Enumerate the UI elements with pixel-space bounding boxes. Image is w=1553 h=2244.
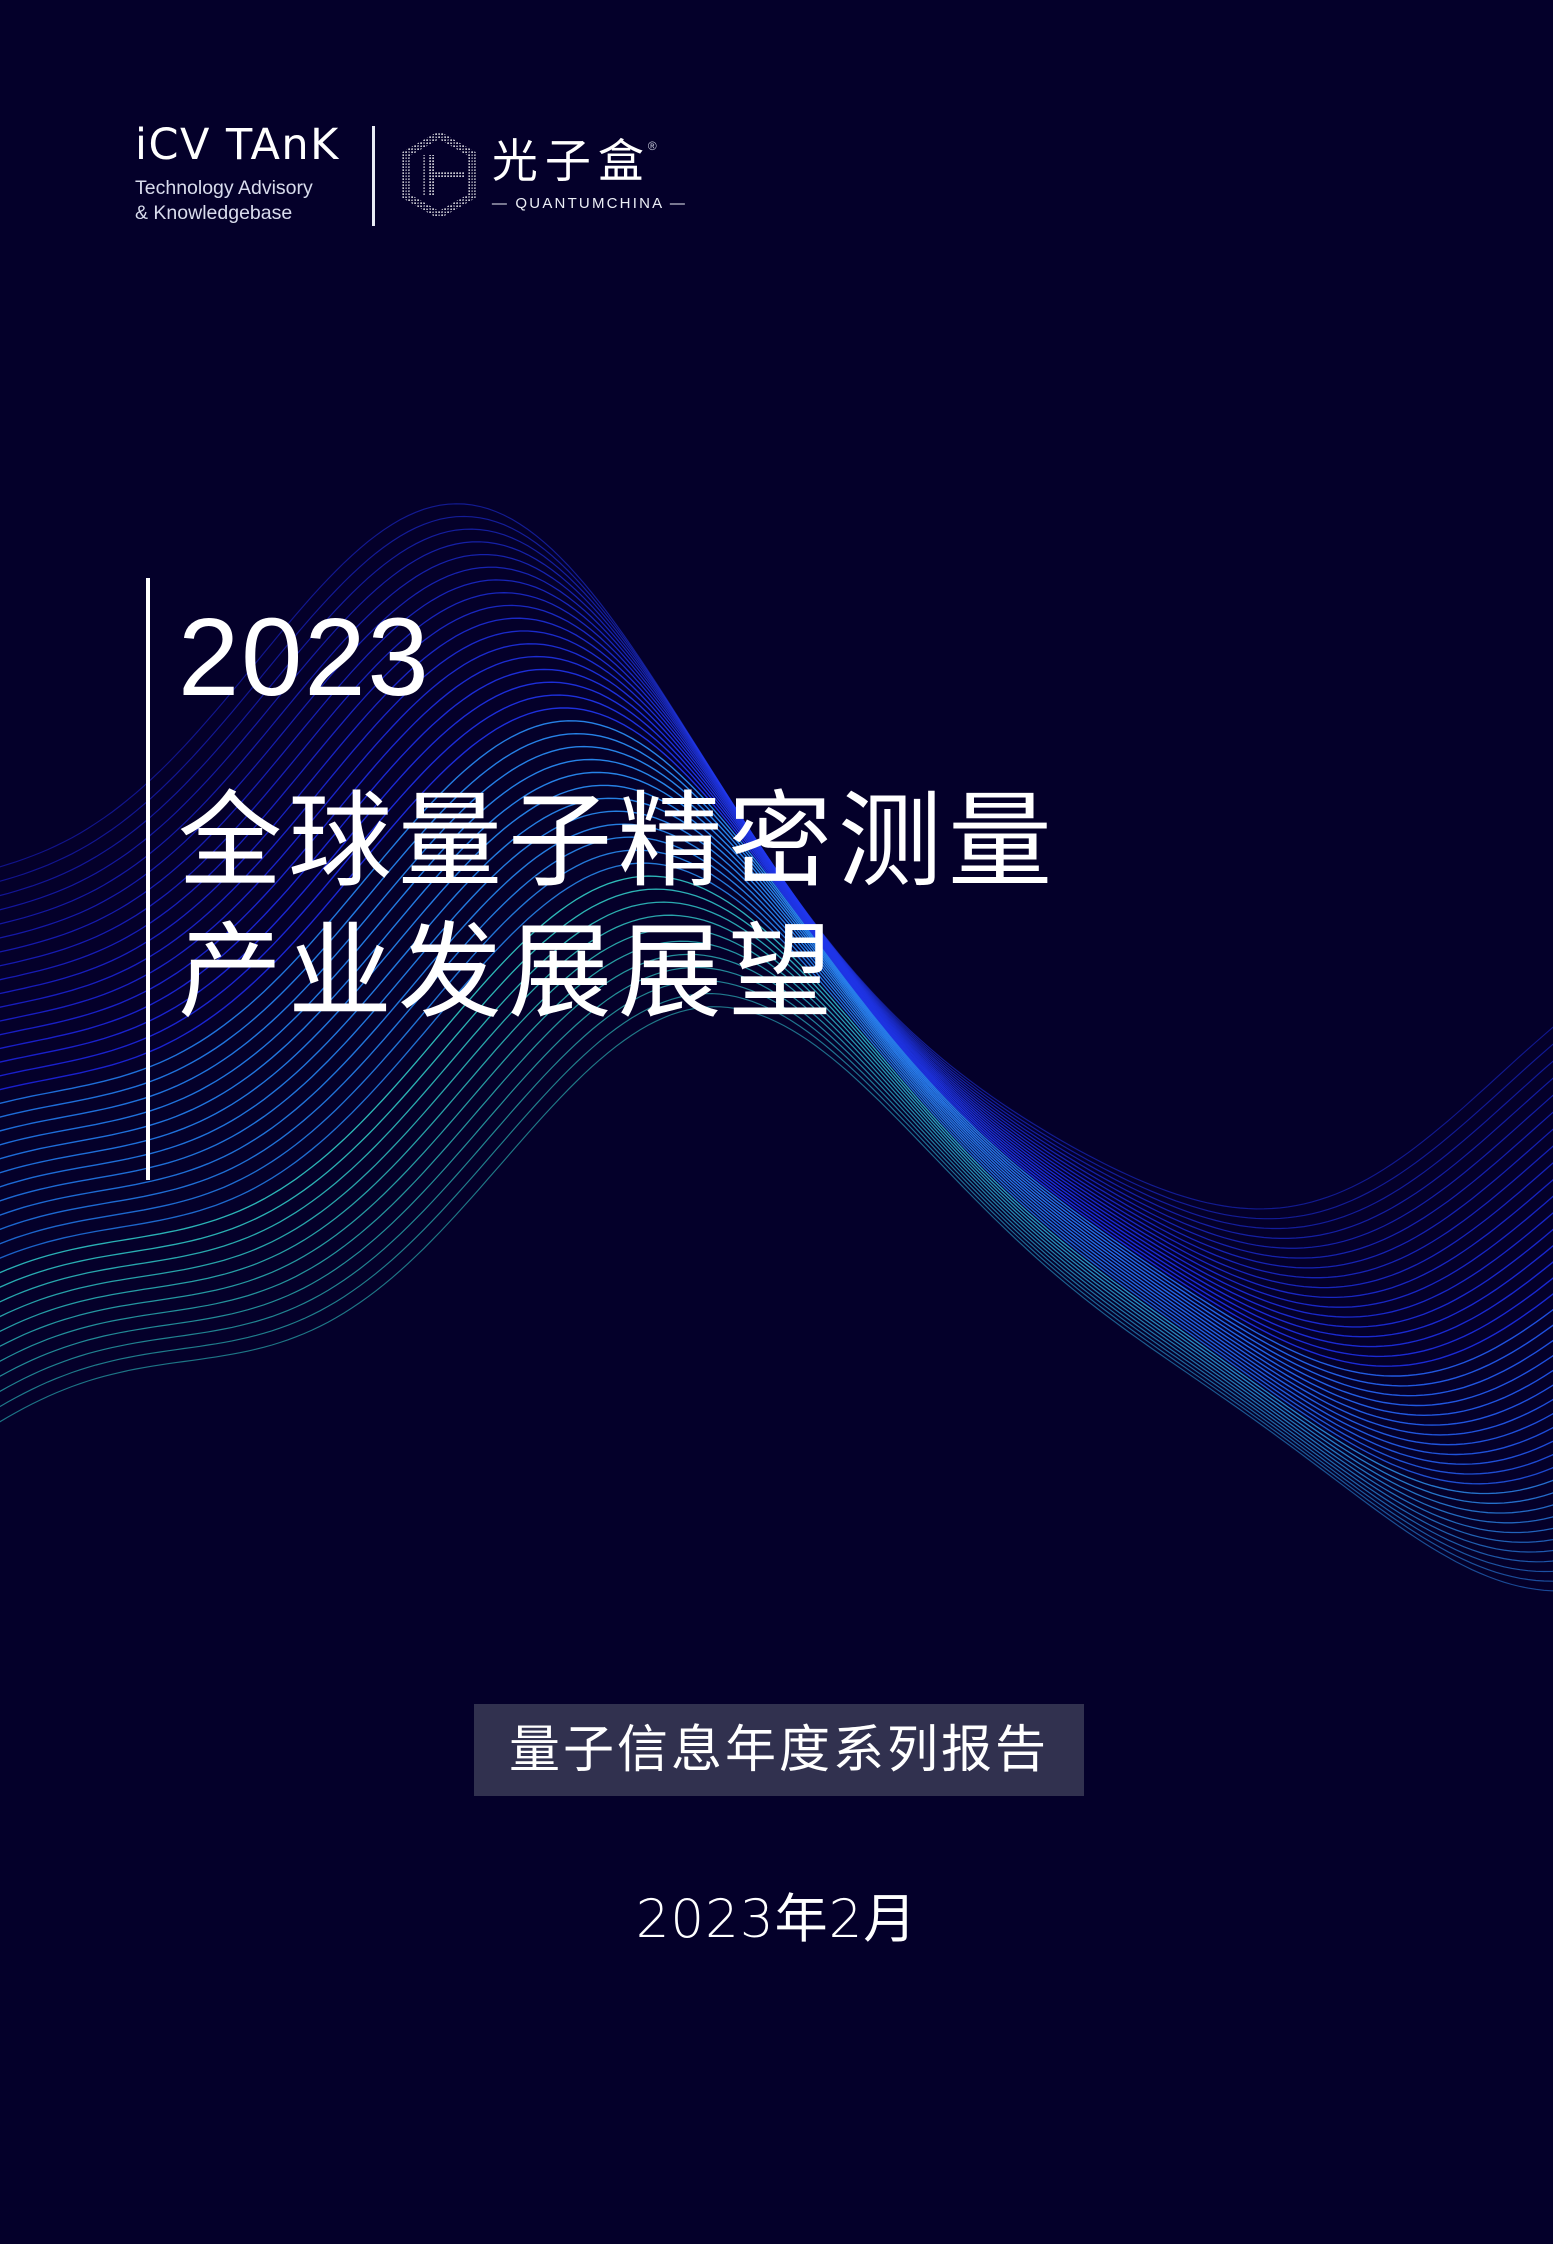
series-badge: 量子信息年度系列报告: [474, 1704, 1084, 1796]
wave-line: [0, 981, 1553, 1572]
icv-tank-logo: iCV TAnK Technology Advisory & Knowledge…: [135, 124, 340, 226]
logo-divider: [372, 126, 375, 226]
wave-line: [0, 954, 1553, 1552]
report-title-line-2: 产业发展展望: [178, 907, 1278, 1038]
wave-line: [0, 1007, 1553, 1591]
quantumchina-name-row: 光子盒 ®: [492, 138, 687, 184]
publication-date: 2023年2月: [0, 1877, 1553, 1953]
quantumchina-english-name: — QUANTUMCHINA —: [492, 195, 687, 212]
report-title-line-1: 全球量子精密测量: [178, 776, 1278, 907]
icv-tank-tagline: Technology Advisory & Knowledgebase: [135, 176, 340, 226]
report-title: 全球量子精密测量 产业发展展望: [178, 776, 1278, 1038]
title-vertical-rule: [146, 578, 150, 1180]
wave-line: [0, 994, 1553, 1582]
report-cover-page: iCV TAnK Technology Advisory & Knowledge…: [0, 0, 1553, 2244]
report-year: 2023: [178, 600, 1278, 716]
hexagon-g-icon: [402, 133, 476, 217]
quantumchina-text: 光子盒 ® — QUANTUMCHINA —: [492, 138, 687, 212]
wave-line: [0, 967, 1553, 1561]
header-logo-bar: iCV TAnK Technology Advisory & Knowledge…: [135, 120, 687, 230]
series-badge-label: 量子信息年度系列报告: [509, 1725, 1049, 1776]
registered-trademark-icon: ®: [648, 140, 657, 152]
quantumchina-chinese-name: 光子盒: [492, 138, 651, 184]
title-block: 2023 全球量子精密测量 产业发展展望: [178, 600, 1278, 1038]
icv-tank-wordmark: iCV TAnK: [135, 124, 340, 167]
quantumchina-logo: 光子盒 ® — QUANTUMCHINA —: [402, 133, 687, 217]
